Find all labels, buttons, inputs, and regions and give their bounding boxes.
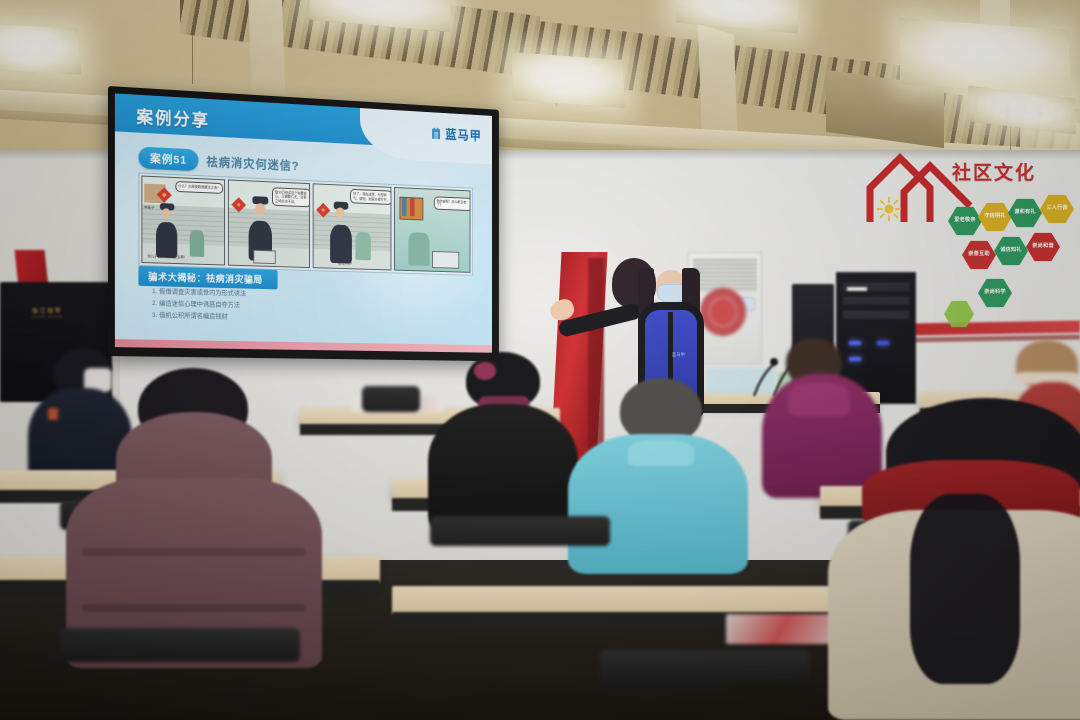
- culture-hexagon: 爱老敬亲: [948, 206, 982, 236]
- comic-bubble-side: 你儿子明年有血光之灾啊！: [146, 252, 189, 262]
- beanie-flower: [474, 362, 496, 380]
- culture-hexagon-label: 崇尚和谐: [1026, 232, 1060, 262]
- leaflets: [726, 614, 836, 644]
- comic-bubble: 我的钱呢？怎么都没有了？: [434, 196, 471, 211]
- culture-hexagon: 谦和有礼: [1008, 198, 1042, 228]
- culture-hexagon: 崇尚科学: [978, 278, 1012, 308]
- brand-logo: 蓝马甲: [430, 124, 481, 145]
- piano-brand-plate: 珠江钢琴: [32, 306, 62, 315]
- piano-brand-sub: PEARL RIVER: [32, 315, 62, 319]
- ceiling-light: [676, 0, 798, 33]
- sun-icon: [876, 196, 902, 222]
- slide-bullets: 1. 假借调查灾害或世内为形式诱法 2. 编造迷信心理中诱惑自夺方法 3. 借机…: [152, 286, 246, 324]
- slide: 案例分享 蓝马甲 案例51 祛病消灾何迷信?: [115, 93, 492, 352]
- comic-panel: 年 取10万块买这个布置在心，只需要几天，法事之间分灾不动。: [228, 179, 309, 268]
- comic-panel: 福 什么？大师快救我解文之危！ 你儿子明年有血光之灾啊！ 仲某子: [141, 176, 225, 266]
- hair-strand: [910, 494, 1020, 684]
- blue-vest-icon: [430, 126, 441, 140]
- culture-hexagon: 崇尚和谐: [1026, 232, 1060, 262]
- ceiling-light: [511, 52, 625, 108]
- culture-hexagon-label: 崇尚科学: [978, 278, 1012, 308]
- brand-logo-text: 蓝马甲: [445, 124, 481, 144]
- comic-bubble: 取10万块买这个布置在心，只需要几天，法事之间分灾不动。: [272, 187, 309, 207]
- culture-hexagon-label: 爱老敬亲: [948, 206, 982, 236]
- presentation-screen[interactable]: 案例分享 蓝马甲 案例51 祛病消灾何迷信?: [108, 86, 499, 361]
- chair: [362, 386, 420, 412]
- ceiling-light: [898, 18, 1071, 96]
- comic-panel: 我的钱呢？怎么都没有了？: [394, 187, 471, 273]
- desk: [392, 586, 862, 614]
- comic-bubble-side: 都是大师！: [337, 259, 371, 268]
- case-heading-row: 案例51 祛病消灾何迷信?: [138, 147, 299, 176]
- culture-hexagon: 崇善互助: [962, 240, 996, 270]
- chair: [60, 628, 300, 662]
- ceiling-light: [0, 23, 81, 74]
- culture-hexagon-label: 守信明礼: [978, 202, 1012, 232]
- culture-hexagon-label: 三人行善: [1040, 194, 1074, 224]
- case-badge: 案例51: [138, 147, 198, 172]
- screen-display-area: 案例分享 蓝马甲 案例51 祛病消灾何迷信?: [115, 93, 492, 352]
- culture-hexagon: 三人行善: [1040, 194, 1074, 224]
- comic-character-label: 仲某子: [144, 206, 154, 211]
- chair: [600, 650, 810, 684]
- vest-label: 蓝马甲: [672, 352, 685, 358]
- slide-bullet: 3. 借机公积所谓名编造钱财: [152, 310, 246, 324]
- audience-member: [862, 398, 1080, 720]
- chair: [430, 516, 610, 546]
- culture-hexagon-label: 崇善互助: [962, 240, 996, 270]
- slide-title: 案例分享: [136, 103, 209, 132]
- culture-hexagon: 守信明礼: [978, 202, 1012, 232]
- audience-member: [428, 352, 578, 532]
- culture-hexagon-label: 谦和有礼: [1008, 198, 1042, 228]
- case-question: 祛病消灾何迷信?: [206, 152, 299, 173]
- comic-bubble: 好了，现在这里，为您转气，感知，到家办修打开。: [350, 189, 391, 205]
- audience-member: [42, 368, 332, 668]
- culture-wall-title: 社区文化: [952, 158, 1036, 185]
- photo-scene: 珠江钢琴 PEARL RIVER 案例分享 蓝马甲 案例51: [0, 0, 1080, 720]
- slide-footer-band: [115, 339, 492, 353]
- culture-hexagon-label: 诚信知礼: [994, 236, 1028, 266]
- culture-hexagon: 诚信知礼: [994, 236, 1028, 266]
- comic-strip: 福 什么？大师快救我解文之危！ 你儿子明年有血光之灾啊！ 仲某子 年: [138, 172, 473, 275]
- comic-panel: 年 好了，现在这里，为您转气，感知，到家办修打开。 都是大师！: [312, 183, 391, 270]
- comic-bubble: 什么？大师快救我解文之危！: [175, 181, 223, 193]
